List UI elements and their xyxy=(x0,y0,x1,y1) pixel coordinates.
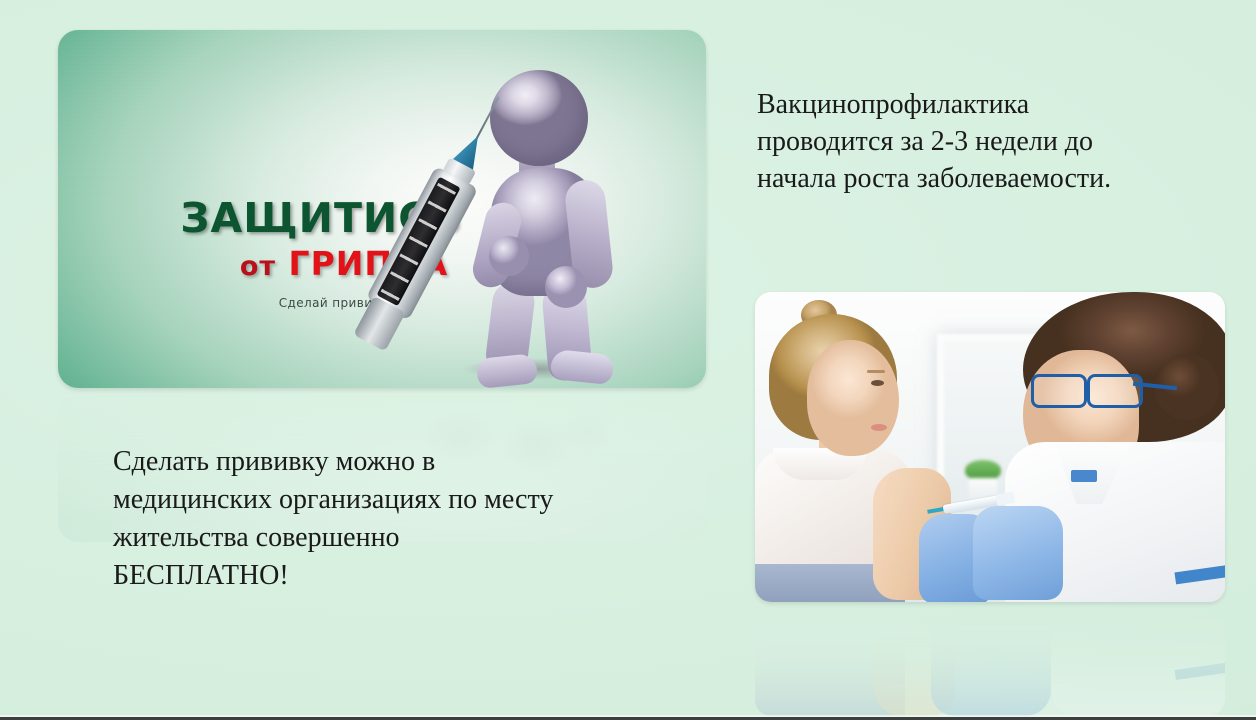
timing-line-3: начала роста заболеваемости. xyxy=(757,160,1195,197)
poster-headline-preposition: от xyxy=(240,251,276,282)
timing-line-1: Вакцинопрофилактика xyxy=(757,86,1195,123)
figure-upper-hand xyxy=(489,236,529,276)
photo-reflection-glove xyxy=(931,630,1051,716)
syringe-graduations xyxy=(380,183,456,302)
girl-eyebrow xyxy=(867,370,885,373)
flu-poster: ЗАЩИТИСЬ от ГРИППА Сделай прививку. xyxy=(58,30,706,388)
where-line-2: медицинских организациях по месту xyxy=(113,481,673,519)
plant-leaf xyxy=(965,460,1001,480)
where-line-1: Сделать прививку можно в xyxy=(113,443,673,481)
poster-surface: ЗАЩИТИСЬ от ГРИППА Сделай прививку. xyxy=(58,30,706,388)
photo-syringe-plunger xyxy=(996,492,1016,506)
vaccination-timing-text: Вакцинопрофилактика проводится за 2-3 не… xyxy=(757,86,1195,198)
girl-eye xyxy=(871,380,884,386)
nurse-glasses xyxy=(1031,374,1143,404)
girl-lips xyxy=(871,424,887,431)
slide-canvas: ЗАЩИТИСЬ от ГРИППА Сделай прививку. xyxy=(0,0,1256,720)
nurse-coat-logo xyxy=(1071,470,1097,482)
syringe-needle xyxy=(475,97,499,140)
figure-left-foot xyxy=(476,353,539,388)
syringe-figure-illustration xyxy=(393,60,693,388)
photo-reflection xyxy=(755,604,1225,716)
figure-lower-hand xyxy=(545,266,587,308)
where-line-4: БЕСПЛАТНО! xyxy=(113,557,673,595)
nurse-right-glove xyxy=(973,506,1063,600)
vaccination-photo xyxy=(755,292,1225,602)
where-to-vaccinate-text: Сделать прививку можно в медицинских орг… xyxy=(113,443,673,595)
glasses-right-lens xyxy=(1087,374,1143,408)
girl-face xyxy=(807,340,899,456)
where-line-3: жительства совершенно xyxy=(113,519,673,557)
glasses-left-lens xyxy=(1031,374,1087,408)
photo-surface xyxy=(755,292,1225,602)
timing-line-2: проводится за 2-3 недели до xyxy=(757,123,1195,160)
